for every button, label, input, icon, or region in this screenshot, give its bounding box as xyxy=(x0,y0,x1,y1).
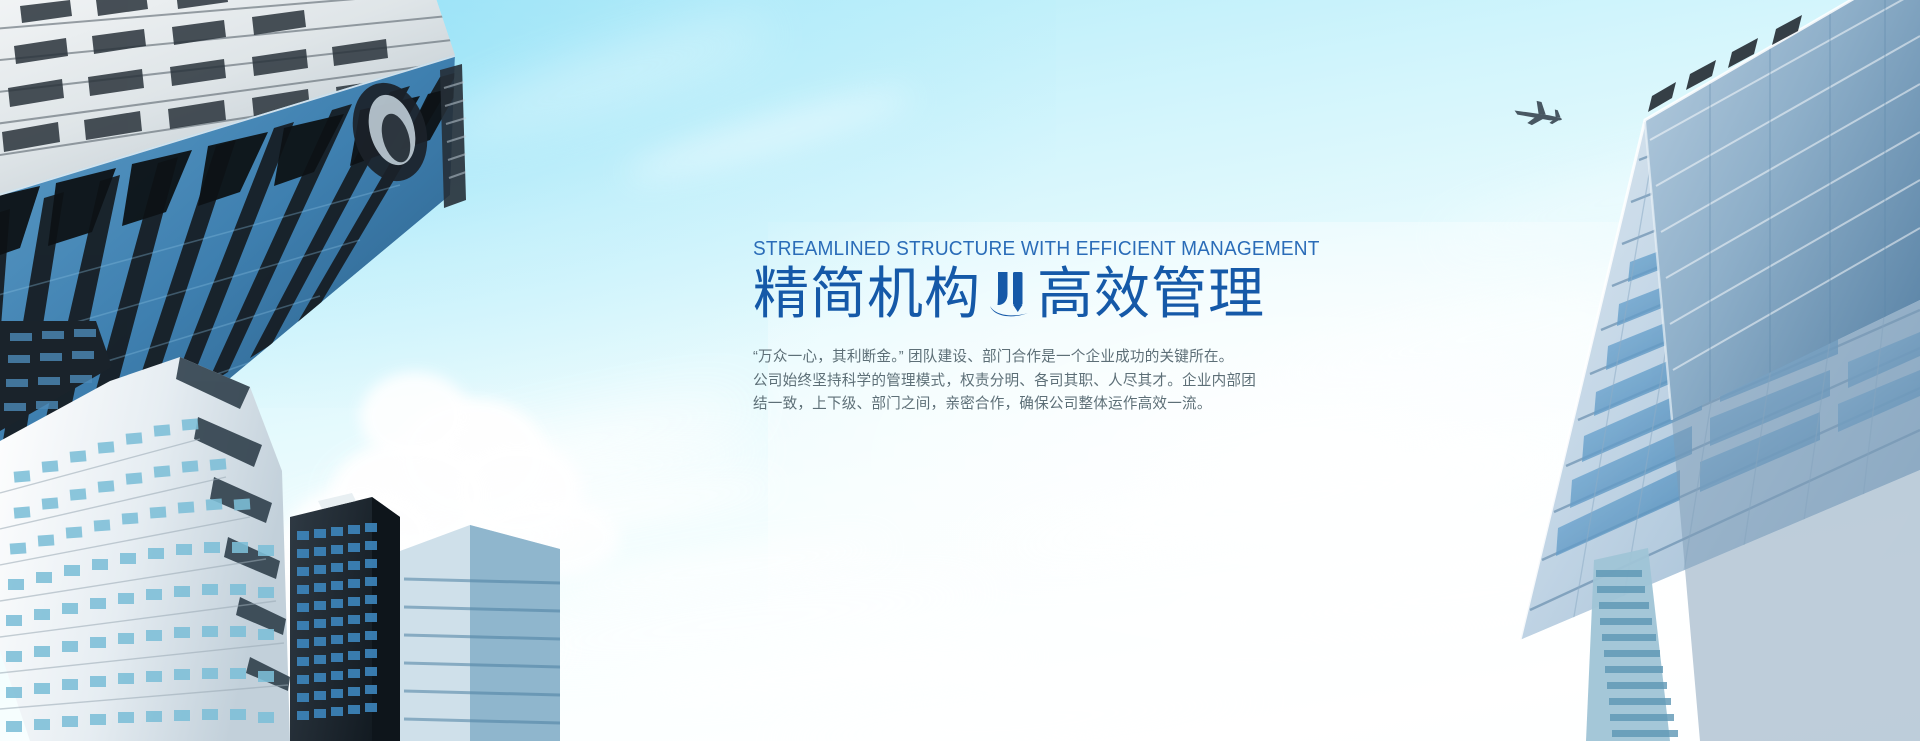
banner-eyebrow: STREAMLINED STRUCTURE WITH EFFICIENT MAN… xyxy=(753,238,1274,261)
airplane-silhouette-icon xyxy=(1508,98,1568,134)
lower-left-towers xyxy=(0,321,560,741)
headline-right-phrase: 高效管理 xyxy=(1037,264,1265,324)
hero-banner: STREAMLINED STRUCTURE WITH EFFICIENT MAN… xyxy=(0,0,1920,741)
body-line-1: “万众一心，其利断金。” 团队建设、部门合作是一个企业成功的关键所在。 xyxy=(753,346,1313,370)
headline-left-phrase: 精简机构 xyxy=(753,264,981,324)
banner-headline: 精简机构 高效管理 xyxy=(753,264,1313,324)
right-building xyxy=(1380,0,1920,741)
body-line-2: 公司始终坚持科学的管理模式，权责分明、各司其职、人尽其才。企业内部团 xyxy=(753,370,1313,394)
banner-copy: STREAMLINED STRUCTURE WITH EFFICIENT MAN… xyxy=(753,238,1313,417)
banner-body-copy: “万众一心，其利断金。” 团队建设、部门合作是一个企业成功的关键所在。 公司始终… xyxy=(753,346,1313,417)
body-line-3: 结一致，上下级、部门之间，亲密合作，确保公司整体运作高效一流。 xyxy=(753,393,1313,417)
stylized-brand-mark-icon xyxy=(987,268,1031,320)
left-building xyxy=(0,0,470,470)
